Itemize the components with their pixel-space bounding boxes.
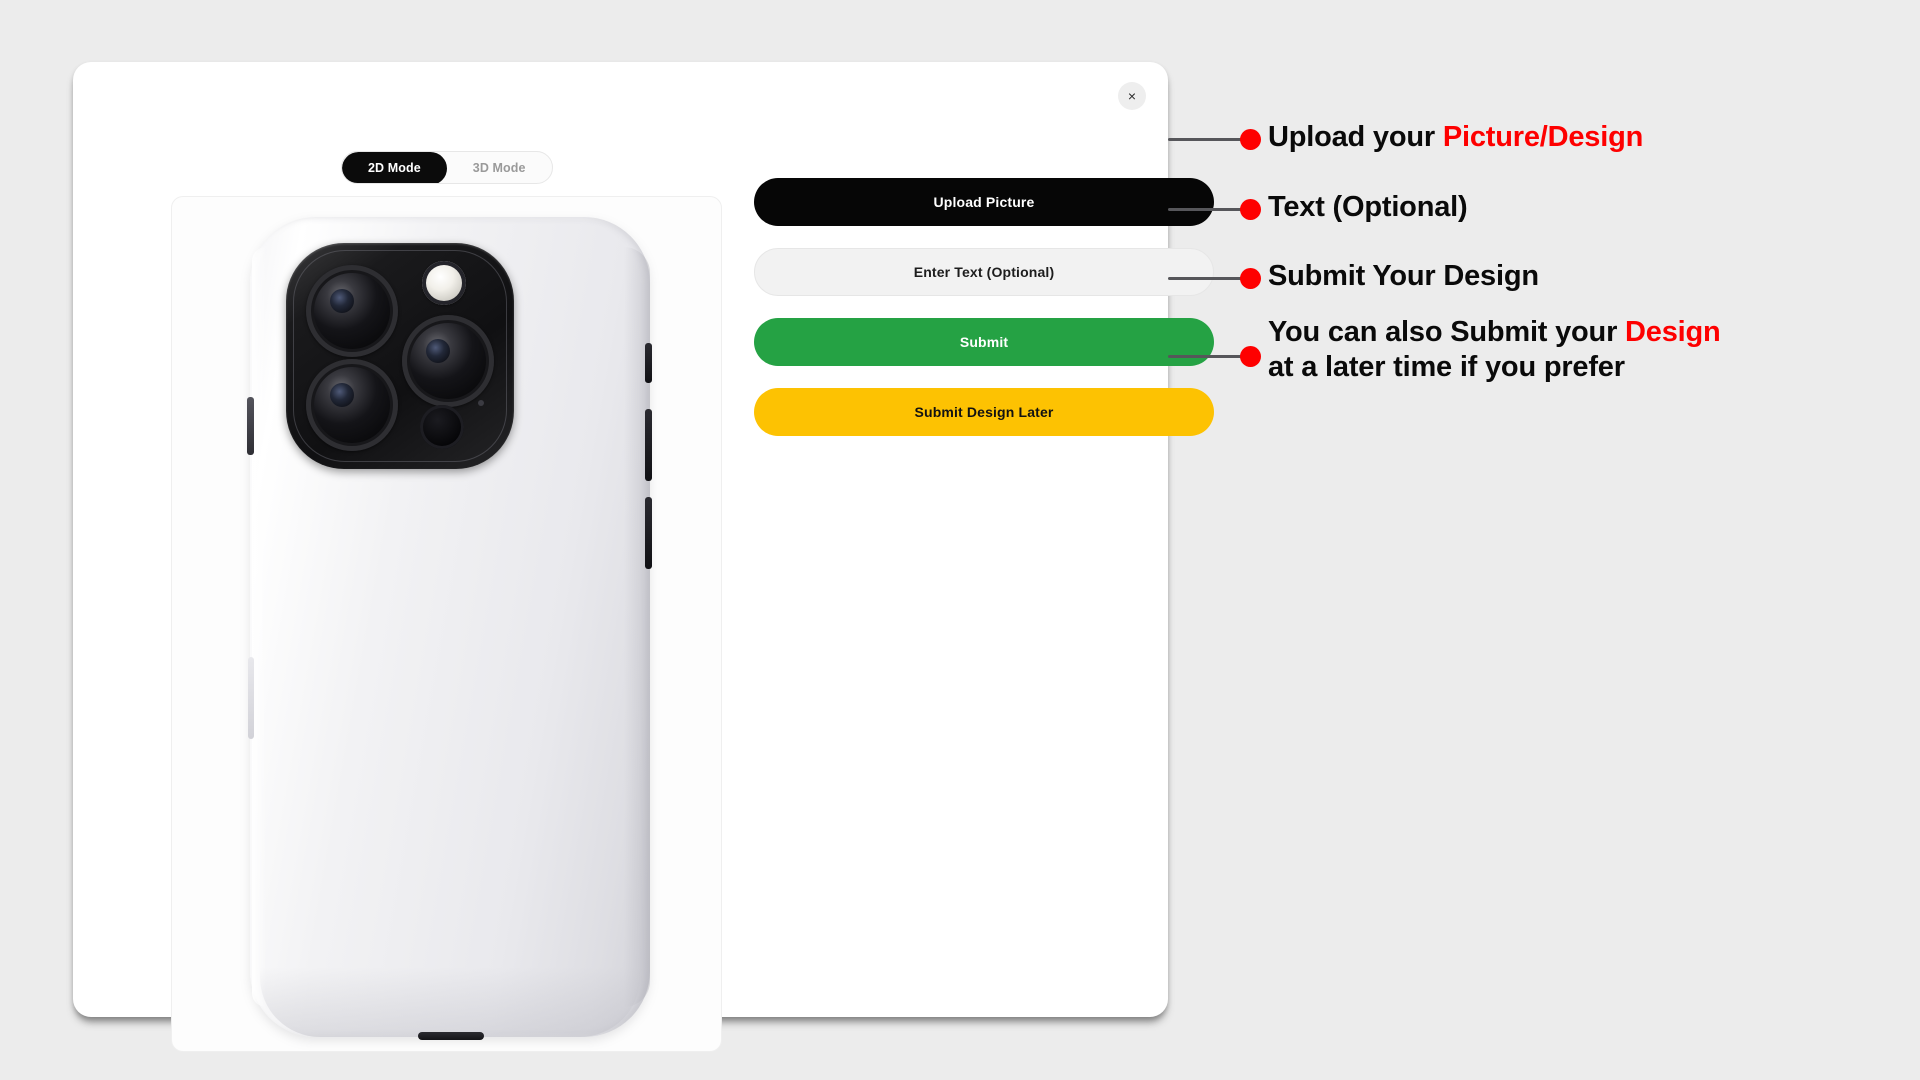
annotation-line1-plain: Submit Your Design (1268, 260, 1539, 292)
design-controls: Upload Picture Enter Text (Optional) Sub… (754, 178, 1214, 458)
camera-lens-top-left (306, 265, 398, 357)
annotation-leader-line (1168, 355, 1248, 358)
charging-port-cutout (418, 1032, 484, 1040)
phone-rim-left (252, 247, 266, 1007)
submit-design-later-button[interactable]: Submit Design Later (754, 388, 1214, 436)
camera-control-cutout (645, 343, 652, 383)
phone-bottom-shading (260, 967, 640, 1037)
mode-tab-group: 2D Mode 3D Mode (341, 151, 553, 184)
design-modal: × 2D Mode 3D Mode (73, 62, 1168, 1017)
annotation-leader-line (1168, 277, 1248, 280)
annotation-bullet-dot (1240, 268, 1261, 289)
annotation-line1-plain: Upload your (1268, 121, 1443, 153)
annotation-label: Submit Your Design (1268, 259, 1539, 294)
annotation-leader-line (1168, 138, 1248, 141)
annotation-line1-plain: Text (Optional) (1268, 191, 1467, 223)
flash-icon (422, 261, 466, 305)
annotation-line1-highlight: Picture/Design (1443, 121, 1643, 153)
left-volume-cutout (248, 657, 254, 739)
action-button-cutout (247, 397, 254, 455)
annotation-label: Text (Optional) (1268, 190, 1467, 225)
phone-case-mockup (250, 217, 650, 1037)
annotation-bullet-dot (1240, 346, 1261, 367)
volume-up-cutout (645, 409, 652, 481)
annotation-leader-line (1168, 208, 1248, 211)
annotation-bullet-dot (1240, 199, 1261, 220)
volume-down-cutout (645, 497, 652, 569)
submit-button[interactable]: Submit (754, 318, 1214, 366)
annotation-line1-plain: You can also Submit your (1268, 316, 1625, 348)
camera-lens-right (402, 315, 494, 407)
annotation-label: Upload your Picture/Design (1268, 120, 1643, 155)
annotation-label: You can also Submit your Design at a lat… (1268, 315, 1721, 386)
annotation-line2-plain: at a later time if you prefer (1268, 351, 1625, 383)
tab-2d-mode[interactable]: 2D Mode (342, 152, 447, 184)
microphone-dot-icon (478, 400, 484, 406)
lidar-sensor-icon (420, 405, 464, 449)
camera-lens-bottom-left (306, 359, 398, 451)
camera-module (286, 243, 514, 469)
annotation-line1-highlight: Design (1625, 316, 1721, 348)
tab-3d-mode[interactable]: 3D Mode (447, 152, 552, 184)
annotation-line2: at a later time if you prefer (1268, 350, 1721, 385)
close-icon[interactable]: × (1118, 82, 1146, 110)
product-preview-panel[interactable] (171, 196, 722, 1052)
annotation-bullet-dot (1240, 129, 1261, 150)
upload-picture-button[interactable]: Upload Picture (754, 178, 1214, 226)
annotation-line1: You can also Submit your Design (1268, 315, 1721, 350)
enter-text-input[interactable]: Enter Text (Optional) (754, 248, 1214, 296)
